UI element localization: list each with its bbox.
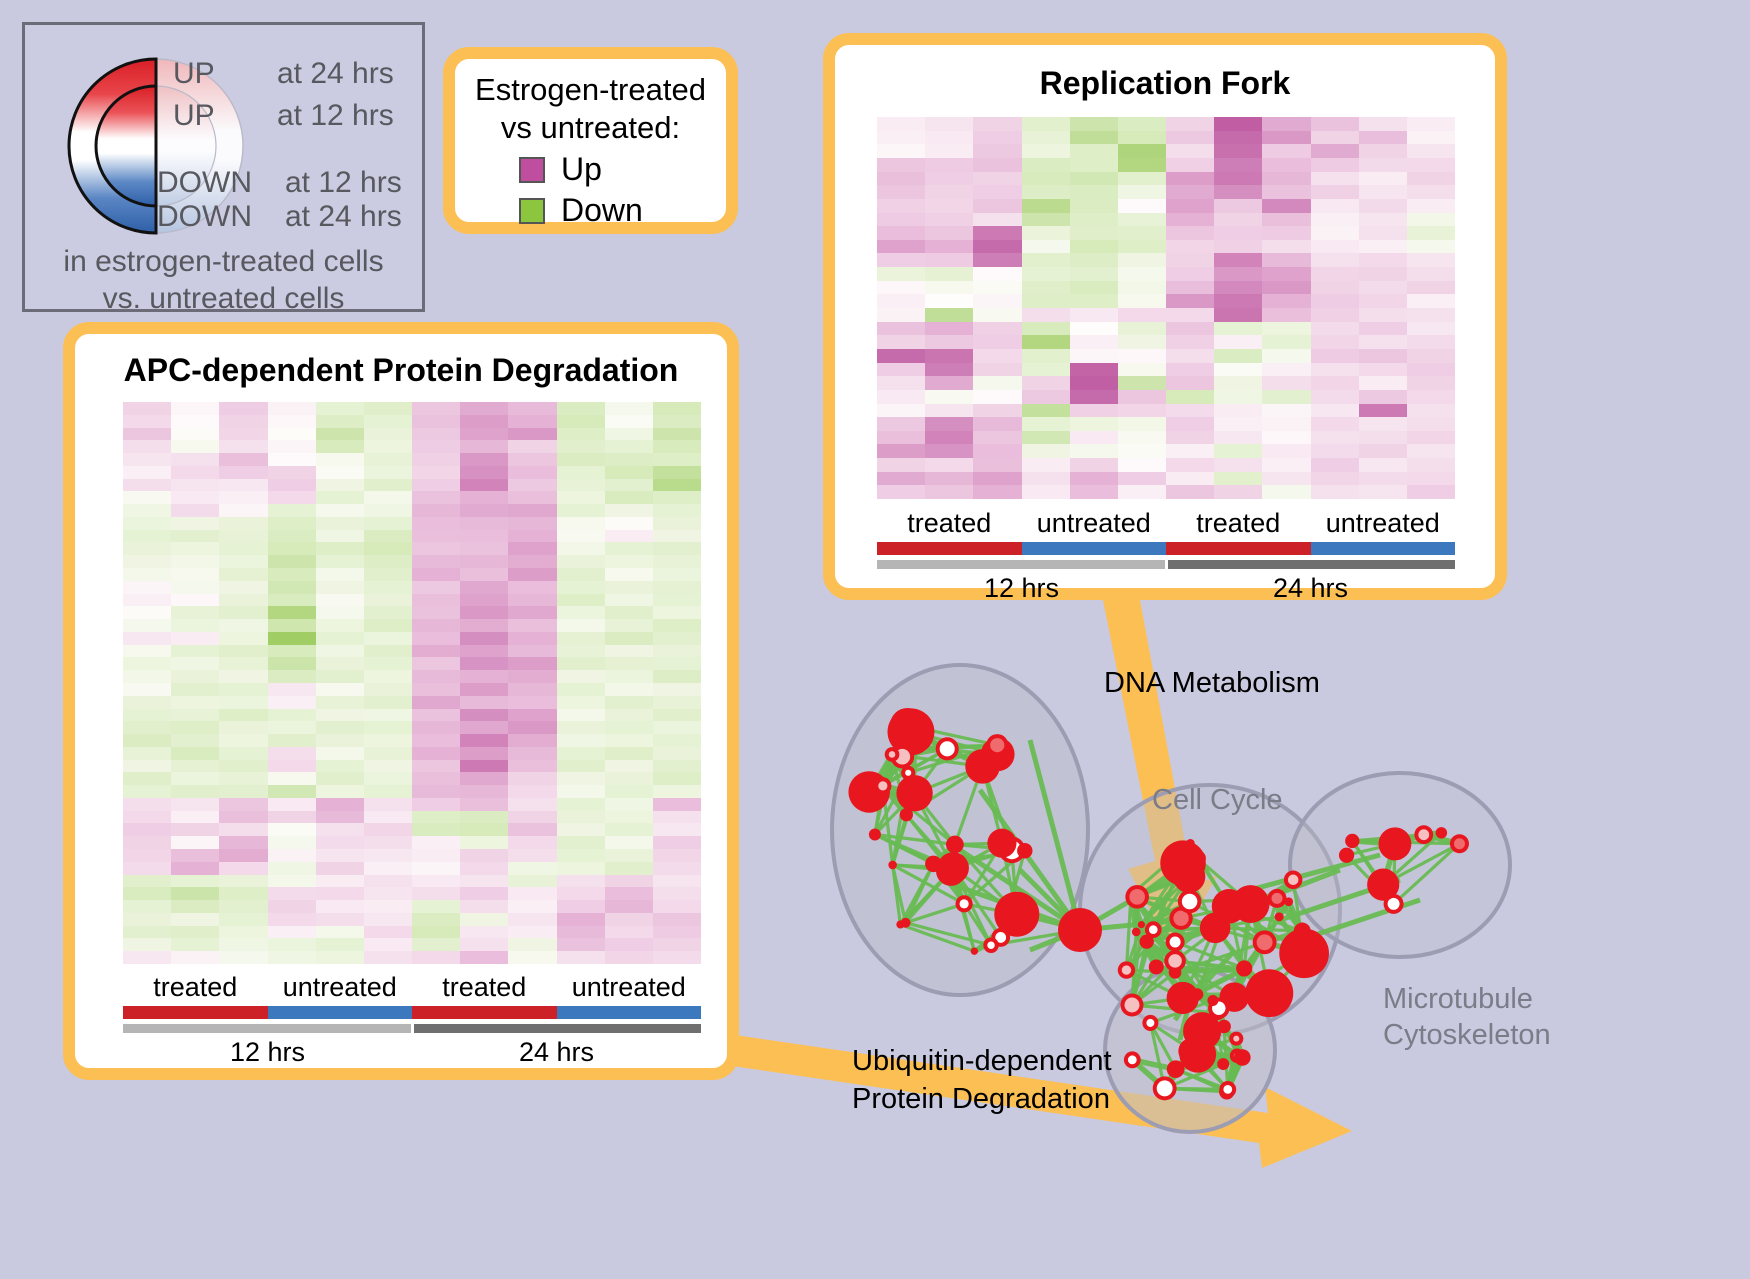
cluster-label-microtubule-cytoskeleton: Microtubule Cytoskeleton (1383, 981, 1551, 1053)
cluster-label-ubiquitin-dependent-protein-degradation: Ubiquitin-dependent Protein Degradation (852, 1042, 1112, 1118)
network-cluster-labels: DNA Metabolism Cell Cycle Microtubule Cy… (0, 0, 1750, 1279)
cluster-label-cell-cycle: Cell Cycle (1152, 784, 1283, 817)
cluster-label-dna-metabolism: DNA Metabolism (1104, 667, 1320, 700)
figure-root: UP at 24 hrs UP at 12 hrs DOWN at 12 hrs… (0, 0, 1750, 1279)
